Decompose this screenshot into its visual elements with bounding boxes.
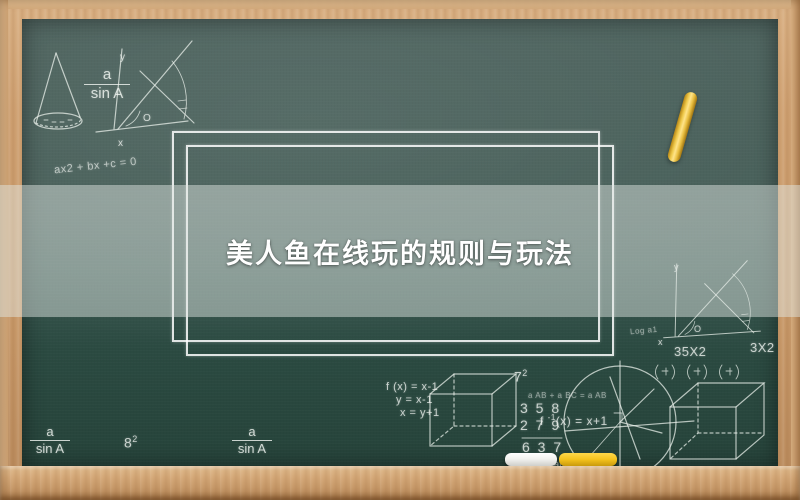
power-eight-base: 8 bbox=[124, 435, 132, 451]
inverse-function-exponent: -1 bbox=[548, 413, 556, 422]
page-title: 美人鱼在线玩的规则与玩法 bbox=[0, 185, 800, 317]
chalk-stick-yellow-on-board bbox=[666, 91, 698, 164]
chalk-white-on-tray bbox=[505, 453, 557, 466]
fraction-numerator: a bbox=[30, 425, 70, 439]
fraction-denominator: sin A bbox=[30, 442, 70, 456]
power-eight: 82 bbox=[124, 434, 138, 451]
power-eight-exponent: 2 bbox=[132, 434, 138, 444]
fraction-numerator: a bbox=[84, 67, 130, 83]
fraction-bar bbox=[232, 440, 272, 441]
axis-label-y-left: y bbox=[120, 52, 126, 63]
fraction-numerator: a bbox=[232, 425, 272, 439]
axis-label-x-left: x bbox=[118, 138, 124, 149]
cube-drawing bbox=[430, 374, 516, 446]
term-3x2: 3X2 bbox=[750, 340, 775, 355]
expression-ab-bc: a AB + a BC = a AB bbox=[528, 391, 607, 400]
cone-drawing bbox=[34, 53, 82, 129]
angle-label-left: O bbox=[143, 113, 151, 124]
function-x: x = y+1 bbox=[400, 407, 440, 419]
angle-label-right: O bbox=[694, 324, 702, 334]
inverse-function-rest: (x) = x+1 bbox=[556, 414, 608, 428]
chalkboard-banner-image: a sin A y x O ax2 + bx +c = 0 y x O f (x… bbox=[0, 0, 800, 500]
power-seven-exponent: 2 bbox=[522, 368, 528, 378]
fraction-denominator: sin A bbox=[232, 442, 272, 456]
fraction-bar bbox=[84, 84, 130, 85]
chalk-tray bbox=[0, 466, 800, 500]
function-fx: f (x) = x-1 bbox=[386, 381, 438, 393]
fraction-a-over-sina-1: a sin A bbox=[84, 67, 130, 102]
function-y: y = x-1 bbox=[396, 394, 433, 406]
arithmetic-row-1: 3 5 8 bbox=[520, 400, 561, 416]
angle-diagram-left bbox=[96, 41, 194, 132]
fraction-bar bbox=[30, 440, 70, 441]
fraction-a-over-sina-2: a sin A bbox=[30, 425, 70, 455]
inverse-function: f -1(x) = x+1 bbox=[540, 413, 608, 428]
sphere-axes-drawing bbox=[564, 361, 694, 468]
cube-drawing-right bbox=[670, 383, 764, 459]
formula-quadratic: ax2 + bx +c = 0 bbox=[54, 156, 138, 177]
fraction-a-over-sina-3: a sin A bbox=[232, 425, 272, 455]
axis-label-x-right: x bbox=[658, 337, 663, 347]
log-a1: Log a1 bbox=[630, 325, 658, 336]
power-seven-base: 7 bbox=[514, 369, 522, 385]
inverse-function-f: f bbox=[540, 414, 548, 428]
chalk-yellow-on-tray bbox=[559, 453, 617, 466]
arithmetic-row-2: 2 7 9 bbox=[520, 417, 561, 433]
term-35x2: 35X2 bbox=[674, 344, 706, 359]
frame-top-bevel bbox=[0, 0, 800, 9]
matrix-brackets bbox=[656, 365, 739, 379]
power-seven: 72 bbox=[514, 368, 528, 385]
fraction-denominator: sin A bbox=[84, 86, 130, 102]
